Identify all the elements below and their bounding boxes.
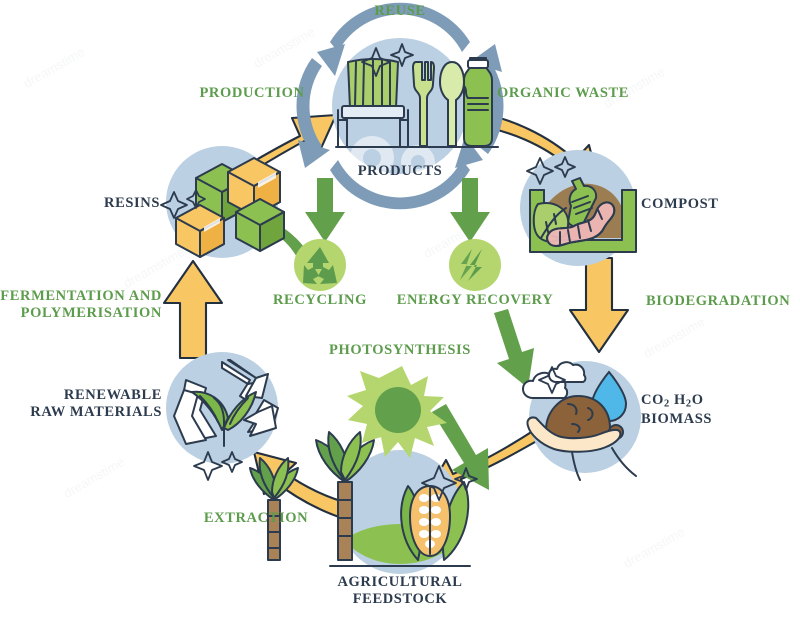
node-agricultural-feedstock[interactable] [250, 432, 477, 574]
node-label-agricultural-feedstock: AGRICULTURAL FEEDSTOCK [337, 574, 462, 608]
feedstock-line-1: AGRICULTURAL [337, 574, 462, 591]
renewable-line-1: RENEWABLE [30, 387, 162, 404]
bottle-icon [464, 58, 492, 146]
badge-energy-recovery[interactable] [449, 239, 501, 291]
process-label-reuse: REUSE [374, 3, 425, 20]
sugarcane-icon [250, 458, 298, 560]
process-label-extraction: EXTRACTION [204, 510, 308, 527]
process-label-production: PRODUCTION [199, 85, 304, 102]
node-label-products: PRODUCTS [358, 163, 443, 180]
process-label-fermentation: FERMENTATION AND POLYMERISATION [0, 288, 162, 322]
corn-icon [401, 482, 468, 560]
fermentation-line-2: POLYMERISATION [0, 305, 162, 322]
node-label-resins: RESINS [104, 195, 160, 212]
feedstock-line-2: FEEDSTOCK [337, 591, 462, 608]
co2-line-2: BIOMASS [641, 411, 712, 428]
node-label-co2-biomass: CO2 H2O BIOMASS [641, 392, 712, 428]
node-co2-biomass[interactable] [523, 361, 641, 480]
process-label-organic-waste: ORGANIC WASTE [497, 85, 629, 102]
process-label-energy-recovery: ENERGY RECOVERY [397, 292, 554, 309]
sun-icon [347, 366, 447, 458]
fermentation-line-1: FERMENTATION AND [0, 288, 162, 305]
process-label-photosynthesis: PHOTOSYNTHESIS [329, 342, 471, 359]
node-label-renewable-raw-materials: RENEWABLE RAW MATERIALS [30, 387, 162, 421]
circular-economy-diagram: dreamstime dreamstime dreamstime dreamst… [0, 0, 800, 618]
node-products[interactable] [332, 38, 498, 180]
badge-recycling[interactable] [294, 239, 346, 291]
process-label-biodegradation: BIODEGRADATION [646, 293, 790, 310]
process-label-recycling: RECYCLING [273, 292, 367, 309]
badge-photosynthesis[interactable] [347, 366, 447, 458]
node-label-compost: COMPOST [641, 196, 719, 213]
node-resins[interactable] [161, 146, 284, 258]
node-compost[interactable] [520, 150, 636, 266]
co2-line-1: CO2 H2O [641, 392, 712, 411]
renewable-line-2: RAW MATERIALS [30, 404, 162, 421]
